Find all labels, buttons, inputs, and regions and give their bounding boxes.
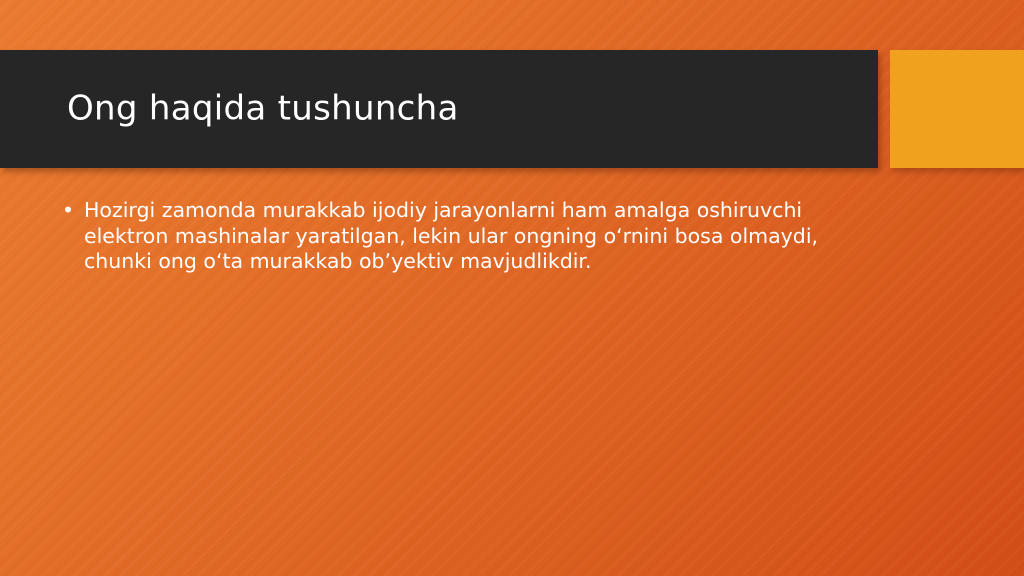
slide-canvas: Ong haqida tushuncha • Hozirgi zamonda m… bbox=[0, 0, 1024, 576]
list-item: • Hozirgi zamonda murakkab ijodiy jarayo… bbox=[62, 198, 822, 275]
bullet-icon: • bbox=[62, 198, 84, 224]
list-item-text: Hozirgi zamonda murakkab ijodiy jarayonl… bbox=[84, 198, 822, 275]
accent-block bbox=[890, 50, 1024, 168]
page-title: Ong haqida tushuncha bbox=[67, 90, 459, 127]
body-content: • Hozirgi zamonda murakkab ijodiy jarayo… bbox=[62, 198, 822, 275]
title-banner: Ong haqida tushuncha bbox=[0, 50, 878, 168]
